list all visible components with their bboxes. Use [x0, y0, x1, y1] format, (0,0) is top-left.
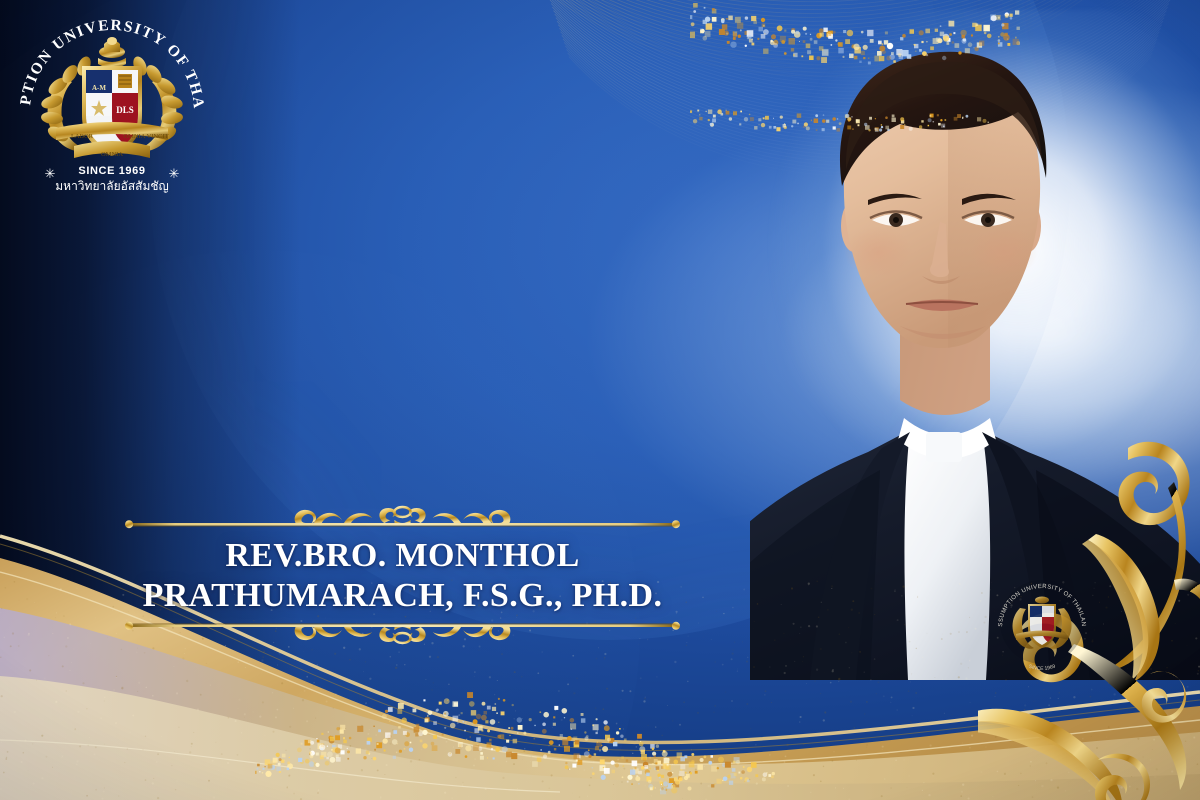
banner-canvas: ASSUMPTION UNIVERSITY OF THAILAND — [0, 0, 1200, 800]
vignette-overlay — [0, 0, 1200, 800]
